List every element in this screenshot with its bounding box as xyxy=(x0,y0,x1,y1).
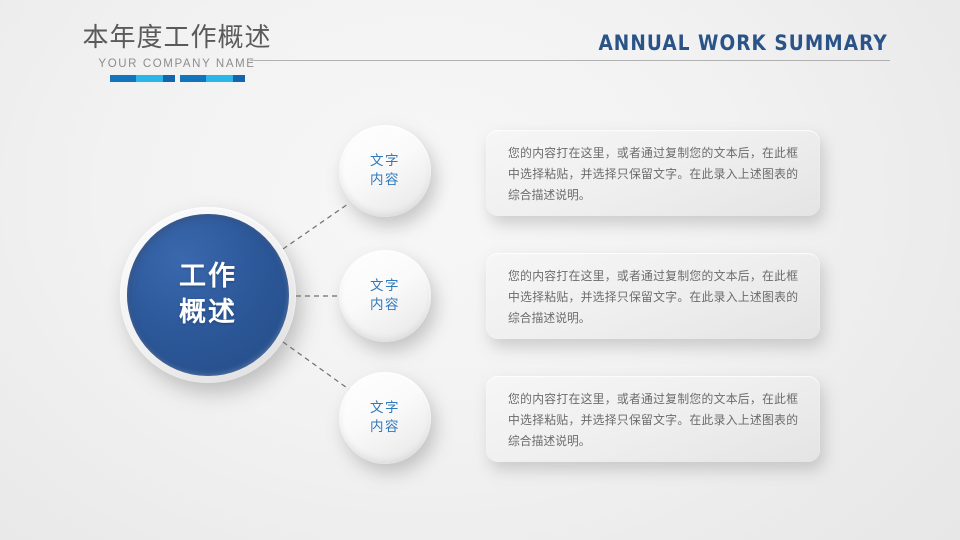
text-panel-2[interactable]: 您的内容打在这里，或者通过复制您的文本后，在此框中选择粘贴，并选择只保留文字。在… xyxy=(486,253,820,339)
node-circle-2[interactable]: 文字 内容 xyxy=(339,250,431,342)
node-label-line1: 文字 xyxy=(370,152,400,171)
hub-circle-inner: 工作 概述 xyxy=(127,214,289,376)
hub-label-line2: 概述 xyxy=(179,295,237,331)
node-circle-3[interactable]: 文字 内容 xyxy=(339,372,431,464)
text-panel-1[interactable]: 您的内容打在这里，或者通过复制您的文本后，在此框中选择粘贴，并选择只保留文字。在… xyxy=(486,130,820,216)
text-panel-3[interactable]: 您的内容打在这里，或者通过复制您的文本后，在此框中选择粘贴，并选择只保留文字。在… xyxy=(486,376,820,462)
node-label-line2: 内容 xyxy=(370,418,400,437)
connector-line-1 xyxy=(283,204,348,249)
slide-canvas: 本年度工作概述 YOUR COMPANY NAME ANNUAL WORK SU… xyxy=(0,0,960,540)
panel-body-text: 您的内容打在这里，或者通过复制您的文本后，在此框中选择粘贴，并选择只保留文字。在… xyxy=(508,389,798,452)
hub-circle[interactable]: 工作 概述 xyxy=(120,207,296,383)
panel-body-text: 您的内容打在这里，或者通过复制您的文本后，在此框中选择粘贴，并选择只保留文字。在… xyxy=(508,266,798,329)
node-label-line2: 内容 xyxy=(370,171,400,190)
node-label-line2: 内容 xyxy=(370,296,400,315)
node-label-line1: 文字 xyxy=(370,277,400,296)
panel-body-text: 您的内容打在这里，或者通过复制您的文本后，在此框中选择粘贴，并选择只保留文字。在… xyxy=(508,143,798,206)
node-circle-1[interactable]: 文字 内容 xyxy=(339,125,431,217)
node-label-line1: 文字 xyxy=(370,399,400,418)
connector-line-3 xyxy=(283,342,350,390)
hub-label-line1: 工作 xyxy=(179,259,237,295)
